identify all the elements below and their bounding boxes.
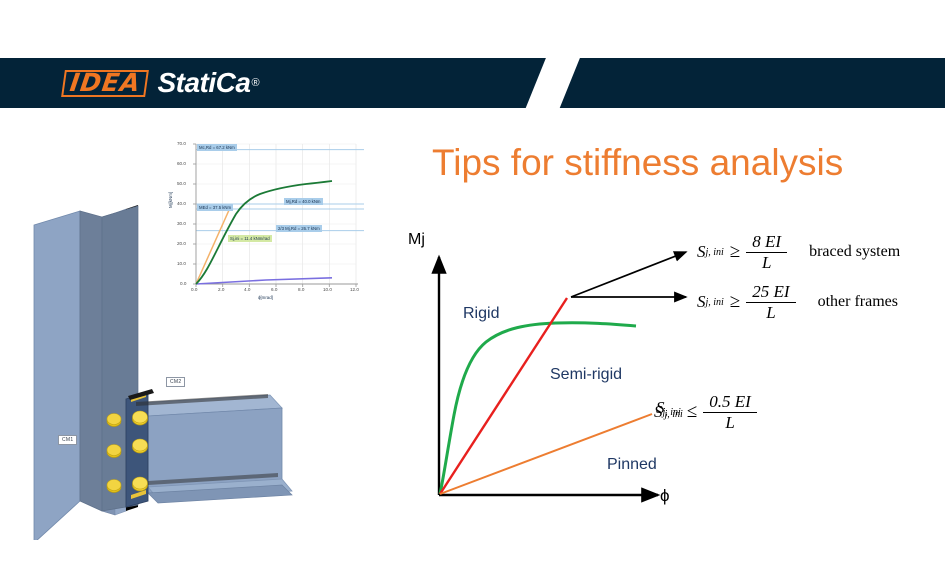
idea-statica-logo[interactable]: IDEA StatiCa ® [63, 68, 260, 98]
region-label-pinned: Pinned [607, 456, 657, 474]
formula-2-numerator: 0.5 EI [703, 393, 757, 412]
chart-ytick-60: 60.0 [177, 161, 186, 166]
chart-x-axis-label: ϕ[mrad] [258, 295, 273, 300]
chart-ytick-30: 30.0 [177, 221, 186, 226]
chart-label-mc-rd: Mc,Rd = 67.2 kNm [197, 144, 237, 151]
formula-0-note: braced system [809, 243, 900, 261]
formula-1-fraction: 25 EI L [746, 283, 795, 322]
formula-1-numerator: 25 EI [746, 283, 795, 302]
chart-y-axis-label: Mj[kNm] [168, 192, 173, 208]
formula-0-denominator: L [746, 252, 787, 272]
formula-2-fraction: 0.5 EI L [703, 393, 757, 432]
chart-ytick-10: 10.0 [177, 261, 186, 266]
chart-label-m-ed: MEd = 37.5 kNm [197, 204, 233, 211]
formula-braced-system: Sj, ini ≥ 8 EI L braced system [697, 233, 900, 272]
chart-xtick-2: 2.0 [218, 287, 224, 292]
formula-1-symbol: S [697, 292, 706, 312]
formula-2-subscript: j, ini [663, 407, 681, 418]
stiffness-diagram-chart[interactable]: Mj[kNm] ϕ[mrad] 0.0 10.0 20.0 30.0 40.0 … [166, 134, 368, 314]
formula-other-frames: Sj, ini ≥ 25 EI L other frames [697, 283, 898, 322]
chart-ytick-0: 0.0 [180, 281, 186, 286]
formula-1-denominator: L [746, 302, 795, 322]
logo-idea-text: IDEA [61, 70, 149, 97]
formula-pinned: Sj, ini ≤ 0.5 EI L [654, 393, 757, 432]
formula-0-relation: ≥ [730, 241, 740, 263]
formula-2-symbol: S [654, 402, 663, 422]
chart-xtick-0: 0.0 [191, 287, 197, 292]
header-diagonal-slash [522, 58, 583, 108]
formula-0-symbol: S [697, 242, 706, 262]
chart-xtick-10: 10.0 [323, 287, 332, 292]
chart-label-sj-ini: Sj,ini = 11.4 kNm/rad [228, 235, 272, 242]
region-label-semi-rigid: Semi-rigid [550, 366, 622, 384]
chart-label-mj-rd: Mj,Rd = 40.0 kNm [284, 198, 323, 205]
formula-0-fraction: 8 EI L [746, 233, 787, 272]
page-title: Tips for stiffness analysis [432, 142, 843, 184]
member-tag-cm1[interactable]: CM1 [58, 435, 77, 445]
chart-ytick-70: 70.0 [177, 141, 186, 146]
registered-trademark-icon: ® [251, 77, 259, 89]
chart-ytick-20: 20.0 [177, 241, 186, 246]
formula-2-relation: ≤ [687, 401, 697, 423]
moment-rotation-diagram: Rigid Semi-rigid Pinned [400, 225, 700, 520]
member-tag-cm2[interactable]: CM2 [166, 377, 185, 387]
formula-1-subscript: j, ini [706, 297, 724, 308]
formula-0-subscript: j, ini [706, 247, 724, 258]
region-label-rigid: Rigid [463, 305, 499, 323]
chart-xtick-12: 12.0 [350, 287, 359, 292]
chart-xtick-6: 6.0 [271, 287, 277, 292]
chart-xtick-4: 4.0 [244, 287, 250, 292]
chart-xtick-8: 8.0 [298, 287, 304, 292]
formula-0-numerator: 8 EI [746, 233, 787, 252]
formula-1-note: other frames [818, 293, 898, 311]
chart-ytick-50: 50.0 [177, 181, 186, 186]
chart-ytick-40: 40.0 [177, 201, 186, 206]
chart-label-two-thirds-mj-rd: 2/3 Mj,Rd = 26.7 kNm [276, 225, 322, 232]
logo-statica-text: StatiCa [157, 67, 250, 99]
bolt-group-endplate [133, 411, 148, 491]
formula-2-denominator: L [703, 412, 757, 432]
formula-1-relation: ≥ [730, 291, 740, 313]
